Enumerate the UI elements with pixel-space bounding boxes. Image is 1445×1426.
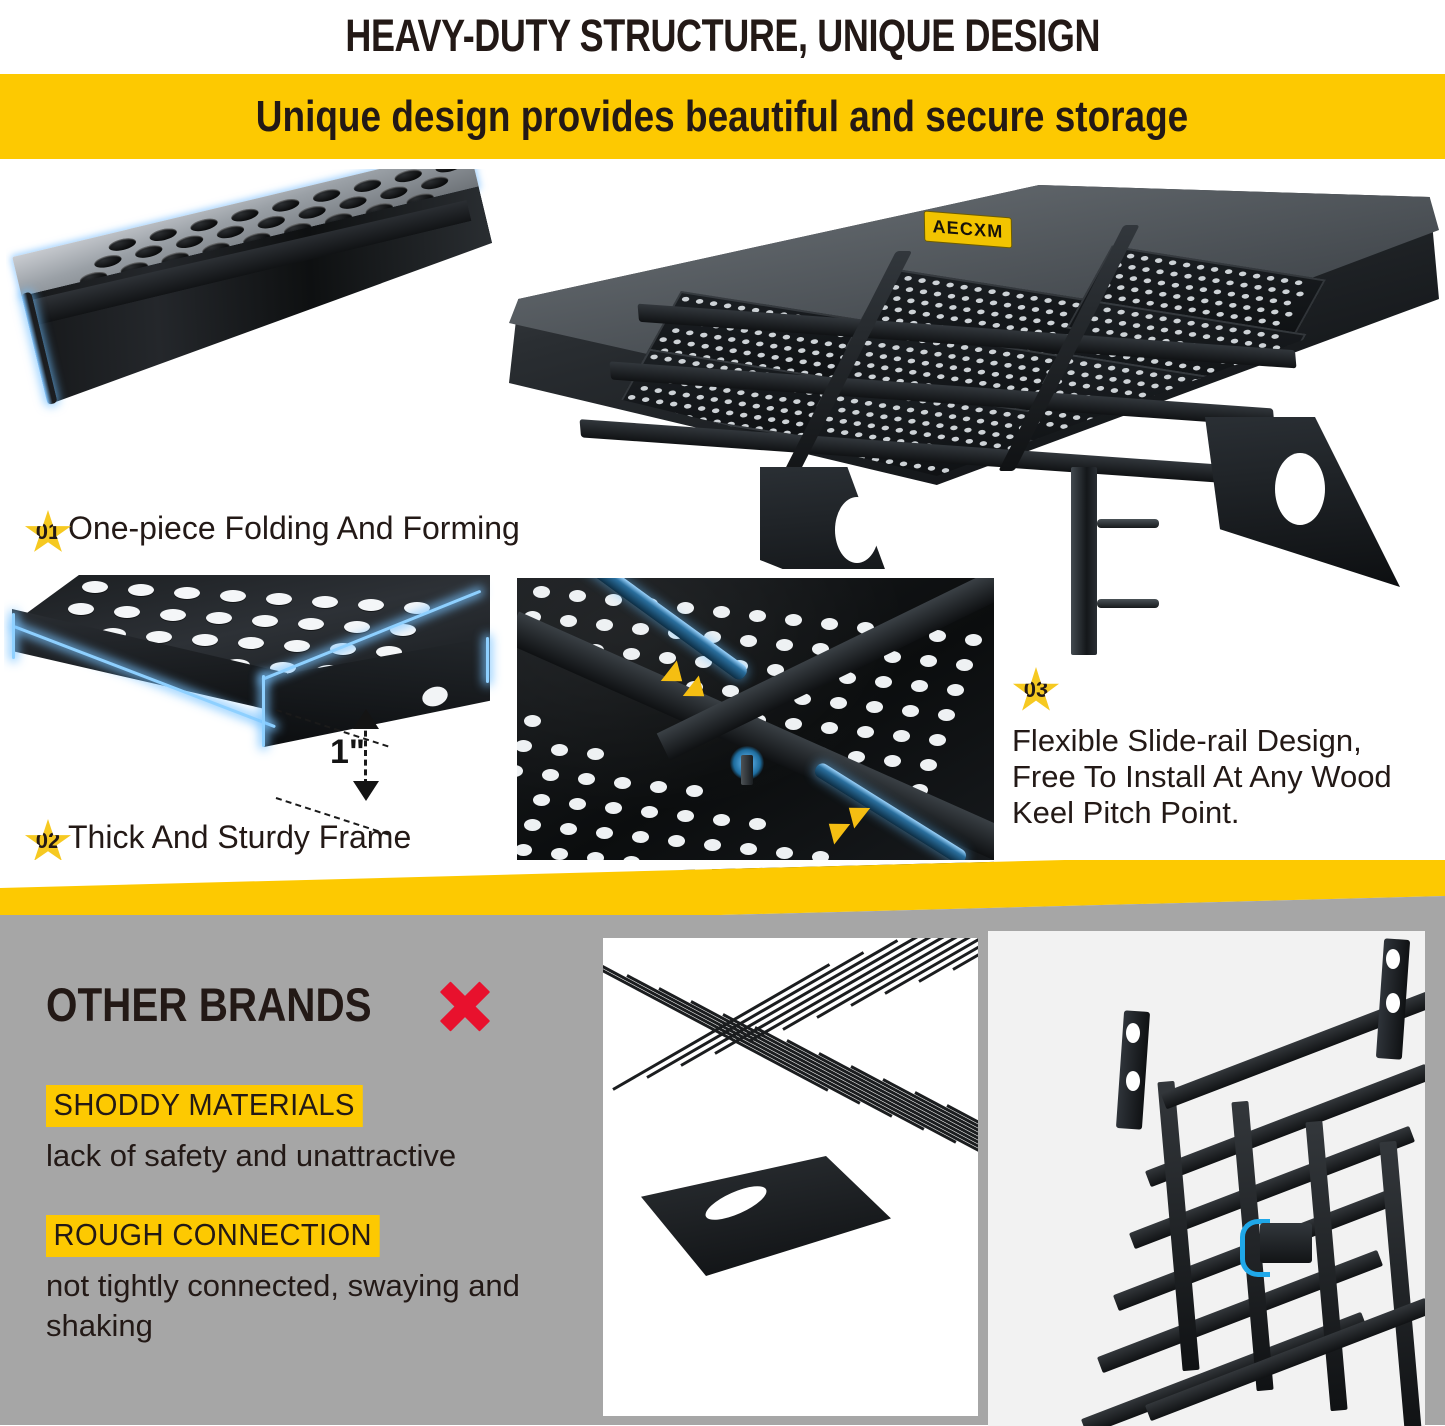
edge-glow bbox=[262, 675, 265, 747]
star-badge-icon: 02 bbox=[24, 819, 72, 865]
star-badge-icon: 03 bbox=[1012, 667, 1060, 715]
drawback-title: ROUGH CONNECTION bbox=[46, 1215, 380, 1257]
connector-block bbox=[1260, 1223, 1312, 1263]
star-badge-icon: 01 bbox=[24, 510, 72, 556]
drawback-item: ROUGH CONNECTION not tightly connected, … bbox=[46, 1215, 586, 1347]
gusset-cutout bbox=[835, 497, 879, 563]
other-brand-photo-1 bbox=[603, 938, 978, 1416]
drawback-description: lack of safety and unattractive bbox=[46, 1136, 586, 1176]
feature-3-photo bbox=[508, 569, 1003, 879]
feature-1-callout: 01 One-piece Folding And Forming bbox=[24, 510, 520, 556]
features-section: 1" AECXM bbox=[0, 159, 1445, 889]
bracket-hole bbox=[1126, 1071, 1140, 1091]
thickness-dimension: 1" bbox=[276, 687, 426, 817]
bolt-icon bbox=[1097, 599, 1159, 608]
edge-glow bbox=[486, 637, 489, 683]
rail-bolt bbox=[730, 746, 764, 780]
subtitle-banner: Unique design provides beautiful and sec… bbox=[0, 74, 1445, 159]
feature-number: 01 bbox=[36, 521, 60, 543]
bolt-icon bbox=[1097, 519, 1159, 528]
drawback-title: SHODDY MATERIALS bbox=[46, 1085, 362, 1127]
bracket-hole bbox=[1386, 949, 1400, 969]
arrow-down-icon bbox=[353, 781, 379, 801]
edge-glow bbox=[12, 613, 15, 659]
subtitle-text: Unique design provides beautiful and sec… bbox=[256, 92, 1188, 142]
feature-3-label: Flexible Slide-rail Design, Free To Inst… bbox=[1012, 723, 1432, 831]
brand-badge-text: AECXM bbox=[932, 216, 1003, 243]
feature-2-photo: 1" bbox=[4, 567, 504, 857]
drawback-item: SHODDY MATERIALS lack of safety and unat… bbox=[46, 1085, 586, 1176]
feature-1-photo bbox=[6, 169, 511, 514]
wall-bracket-post bbox=[1071, 467, 1097, 655]
support-gusset bbox=[1205, 417, 1445, 587]
page-title-text: HEAVY-DUTY STRUCTURE, UNIQUE DESIGN bbox=[345, 10, 1100, 62]
comparison-section: OTHER BRANDS SHODDY MATERIALS lack of sa… bbox=[0, 915, 1445, 1425]
comparison-heading-text: OTHER BRANDS bbox=[46, 977, 372, 1032]
arrow-up-icon bbox=[353, 709, 379, 729]
garage-shelf: AECXM bbox=[505, 167, 1445, 587]
mesh-rack-rail bbox=[641, 1156, 891, 1276]
thickness-label: 1" bbox=[330, 733, 365, 772]
bracket-hole bbox=[1386, 993, 1400, 1013]
feature-2-callout: 02 Thick And Sturdy Frame bbox=[24, 819, 411, 865]
feature-number: 03 bbox=[1024, 679, 1048, 701]
feature-number: 02 bbox=[36, 830, 60, 852]
frame-bar bbox=[1379, 1141, 1421, 1426]
feature-3-callout: 03 Flexible Slide-rail Design, Free To I… bbox=[1012, 667, 1432, 831]
bracket-hole bbox=[1126, 1023, 1140, 1043]
drawback-description: not tightly connected, swaying and shaki… bbox=[46, 1266, 586, 1347]
gusset-cutout bbox=[1275, 453, 1325, 525]
feature-2-label: Thick And Sturdy Frame bbox=[68, 819, 411, 856]
feature-1-label: One-piece Folding And Forming bbox=[68, 510, 520, 547]
x-mark-icon bbox=[431, 973, 493, 1035]
other-brand-photo-2 bbox=[988, 931, 1425, 1426]
page-title: HEAVY-DUTY STRUCTURE, UNIQUE DESIGN bbox=[0, 0, 1445, 72]
c-channel-profile bbox=[12, 169, 504, 405]
infographic-page: HEAVY-DUTY STRUCTURE, UNIQUE DESIGN Uniq… bbox=[0, 0, 1445, 1425]
comparison-heading: OTHER BRANDS bbox=[46, 973, 493, 1035]
